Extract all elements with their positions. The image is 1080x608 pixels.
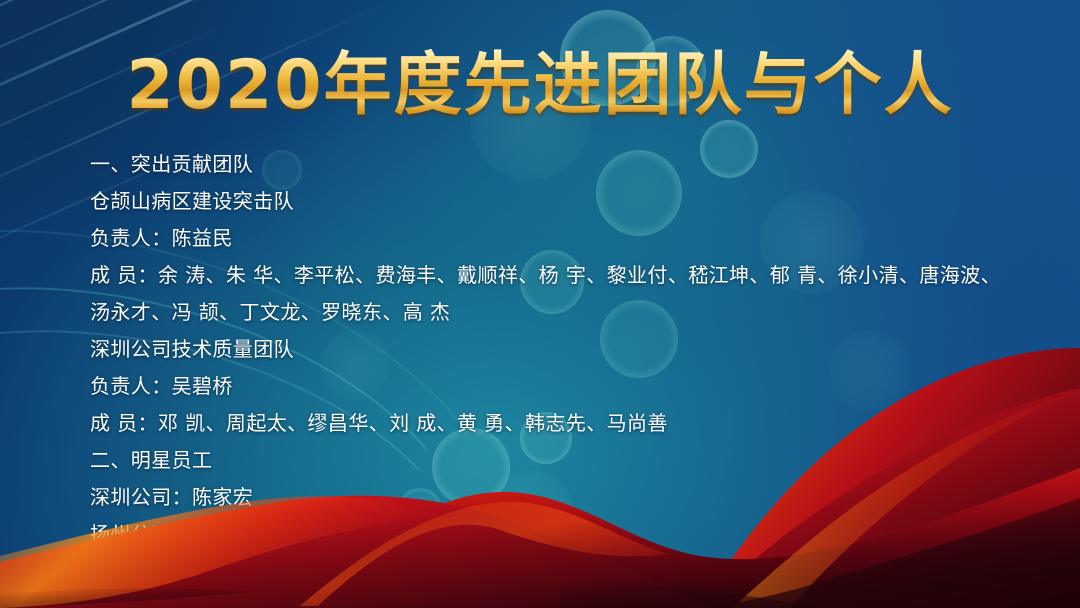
body-line: 仓颉山病区建设突击队	[90, 183, 1020, 220]
slide-title: 2020年度先进团队与个人 2020年度先进团队与个人	[0, 52, 1080, 120]
slide-title-text: 2020年度先进团队与个人	[126, 46, 953, 125]
body-line: 汤永才、冯 颉、丁文龙、罗晓东、高 杰	[90, 294, 1020, 331]
award-slide: 2020年度先进团队与个人 2020年度先进团队与个人 一、突出贡献团队 仓颉山…	[0, 0, 1080, 608]
body-line: 负责人：陈益民	[90, 220, 1020, 257]
red-silk-ribbon-decoration	[0, 348, 1080, 608]
body-line: 一、突出贡献团队	[90, 146, 1020, 183]
body-line: 成 员：余 涛、朱 华、李平松、费海丰、戴顺祥、杨 宇、黎业付、嵇江坤、郁 青、…	[90, 257, 1020, 294]
